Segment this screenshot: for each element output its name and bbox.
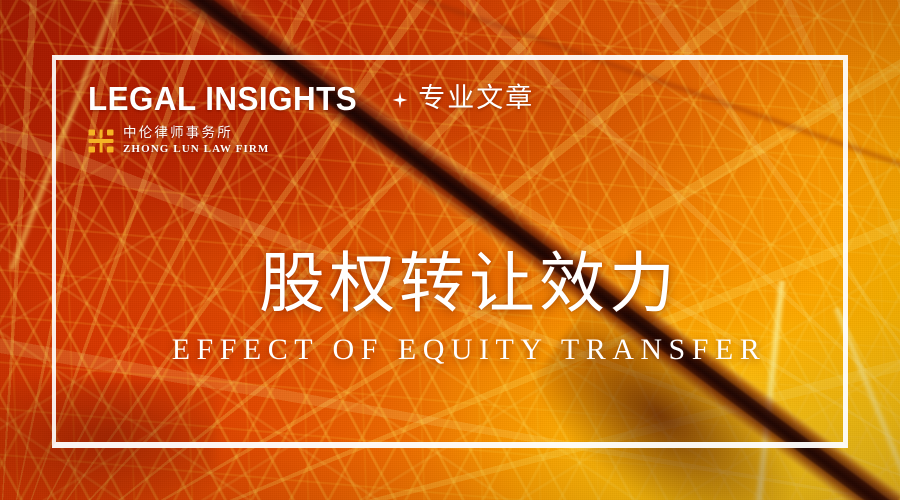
leaf-shadow-patch-left [0,380,216,500]
banner-header: LEGAL INSIGHTS 专业文章 [88,82,534,155]
banner-title-block: 股权转让效力 EFFECT OF EQUITY TRANSFER [0,250,900,365]
firm-logo: 中伦律师事务所 ZHONG LUN LAW FIRM [88,127,534,155]
firm-name-cn: 中伦律师事务所 [123,127,269,141]
article-title-en: EFFECT OF EQUITY TRANSFER [0,335,900,365]
brand-title-en: LEGAL INSIGHTS [88,82,357,115]
legal-insights-banner: LEGAL INSIGHTS 专业文章 [0,0,900,500]
zhong-lun-seal-icon [88,128,114,154]
header-brand-row: LEGAL INSIGHTS 专业文章 [88,82,534,115]
sparkle-icon [391,91,409,109]
firm-name-block: 中伦律师事务所 ZHONG LUN LAW FIRM [123,127,269,155]
article-title-cn: 股权转让效力 [0,250,900,319]
brand-title-cn: 专业文章 [418,85,534,112]
firm-name-en: ZHONG LUN LAW FIRM [123,144,269,155]
